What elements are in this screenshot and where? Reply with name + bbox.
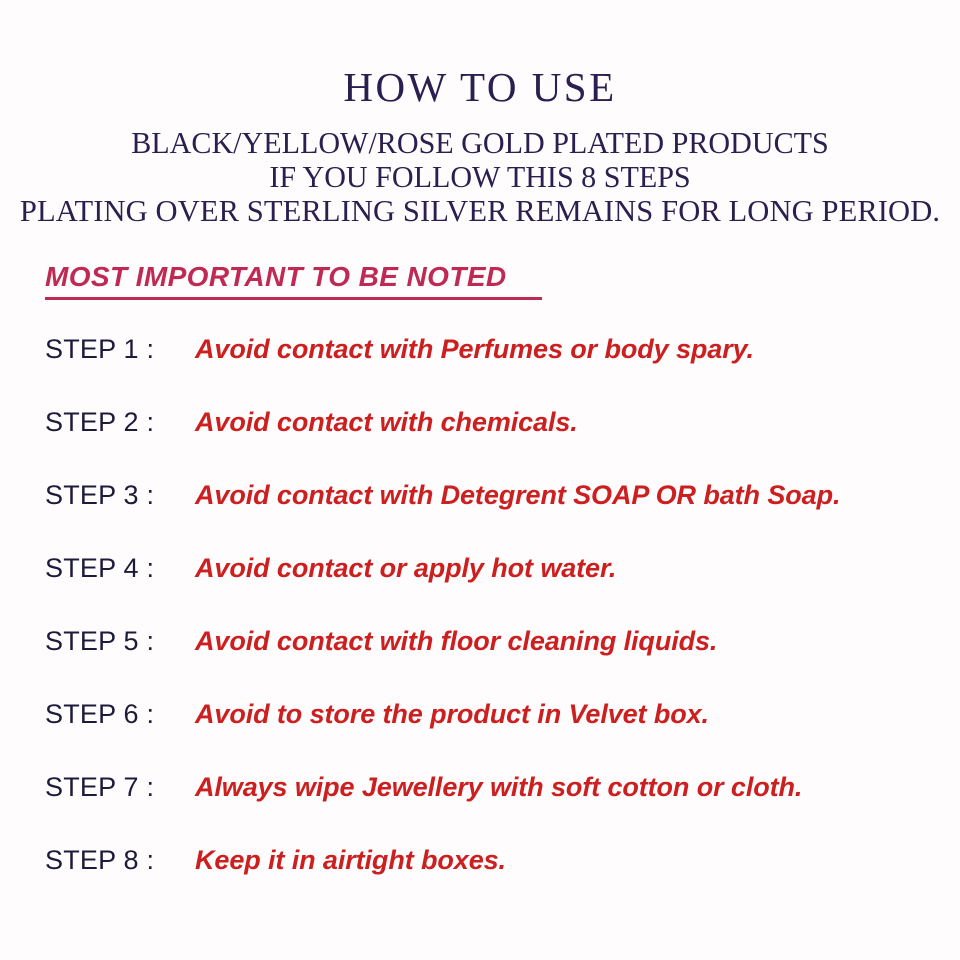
notice-heading-wrap: MOST IMPORTANT TO BE NOTED xyxy=(0,262,960,292)
list-item: STEP 2 : Avoid contact with chemicals. xyxy=(45,407,960,480)
list-item: STEP 3 : Avoid contact with Detegrent SO… xyxy=(45,480,960,553)
page-title: HOW TO USE xyxy=(0,62,960,112)
subtitle-line-3: PLATING OVER STERLING SILVER REMAINS FOR… xyxy=(7,194,953,228)
step-text: Avoid contact with floor cleaning liquid… xyxy=(195,626,717,657)
step-text: Avoid contact or apply hot water. xyxy=(195,553,616,584)
list-item: STEP 1 : Avoid contact with Perfumes or … xyxy=(45,334,960,407)
header-block: HOW TO USE BLACK/YELLOW/ROSE GOLD PLATED… xyxy=(0,0,960,228)
notice-underline-rule xyxy=(45,297,542,300)
step-label: STEP 4 : xyxy=(45,553,195,584)
step-label: STEP 6 : xyxy=(45,699,195,730)
care-instructions-sheet: HOW TO USE BLACK/YELLOW/ROSE GOLD PLATED… xyxy=(0,0,960,960)
step-text: Always wipe Jewellery with soft cotton o… xyxy=(195,772,802,803)
step-text: Keep it in airtight boxes. xyxy=(195,845,506,876)
list-item: STEP 5 : Avoid contact with floor cleani… xyxy=(45,626,960,699)
step-label: STEP 8 : xyxy=(45,845,195,876)
step-text: Avoid contact with chemicals. xyxy=(195,407,578,438)
subtitle-line-1: BLACK/YELLOW/ROSE GOLD PLATED PRODUCTS xyxy=(14,126,945,160)
step-label: STEP 2 : xyxy=(45,407,195,438)
notice-heading: MOST IMPORTANT TO BE NOTED xyxy=(45,262,507,292)
list-item: STEP 6 : Avoid to store the product in V… xyxy=(45,699,960,772)
step-label: STEP 7 : xyxy=(45,772,195,803)
list-item: STEP 7 : Always wipe Jewellery with soft… xyxy=(45,772,960,845)
step-label: STEP 1 : xyxy=(45,334,195,365)
step-text: Avoid contact with Perfumes or body spar… xyxy=(195,334,754,365)
subtitle-block: BLACK/YELLOW/ROSE GOLD PLATED PRODUCTS I… xyxy=(0,126,960,228)
step-text: Avoid contact with Detegrent SOAP OR bat… xyxy=(195,480,840,511)
step-text: Avoid to store the product in Velvet box… xyxy=(195,699,709,730)
list-item: STEP 8 : Keep it in airtight boxes. xyxy=(45,845,960,918)
step-label: STEP 5 : xyxy=(45,626,195,657)
subtitle-line-2: IF YOU FOLLOW THIS 8 STEPS xyxy=(14,160,945,194)
step-label: STEP 3 : xyxy=(45,480,195,511)
steps-list: STEP 1 : Avoid contact with Perfumes or … xyxy=(0,334,960,918)
list-item: STEP 4 : Avoid contact or apply hot wate… xyxy=(45,553,960,626)
